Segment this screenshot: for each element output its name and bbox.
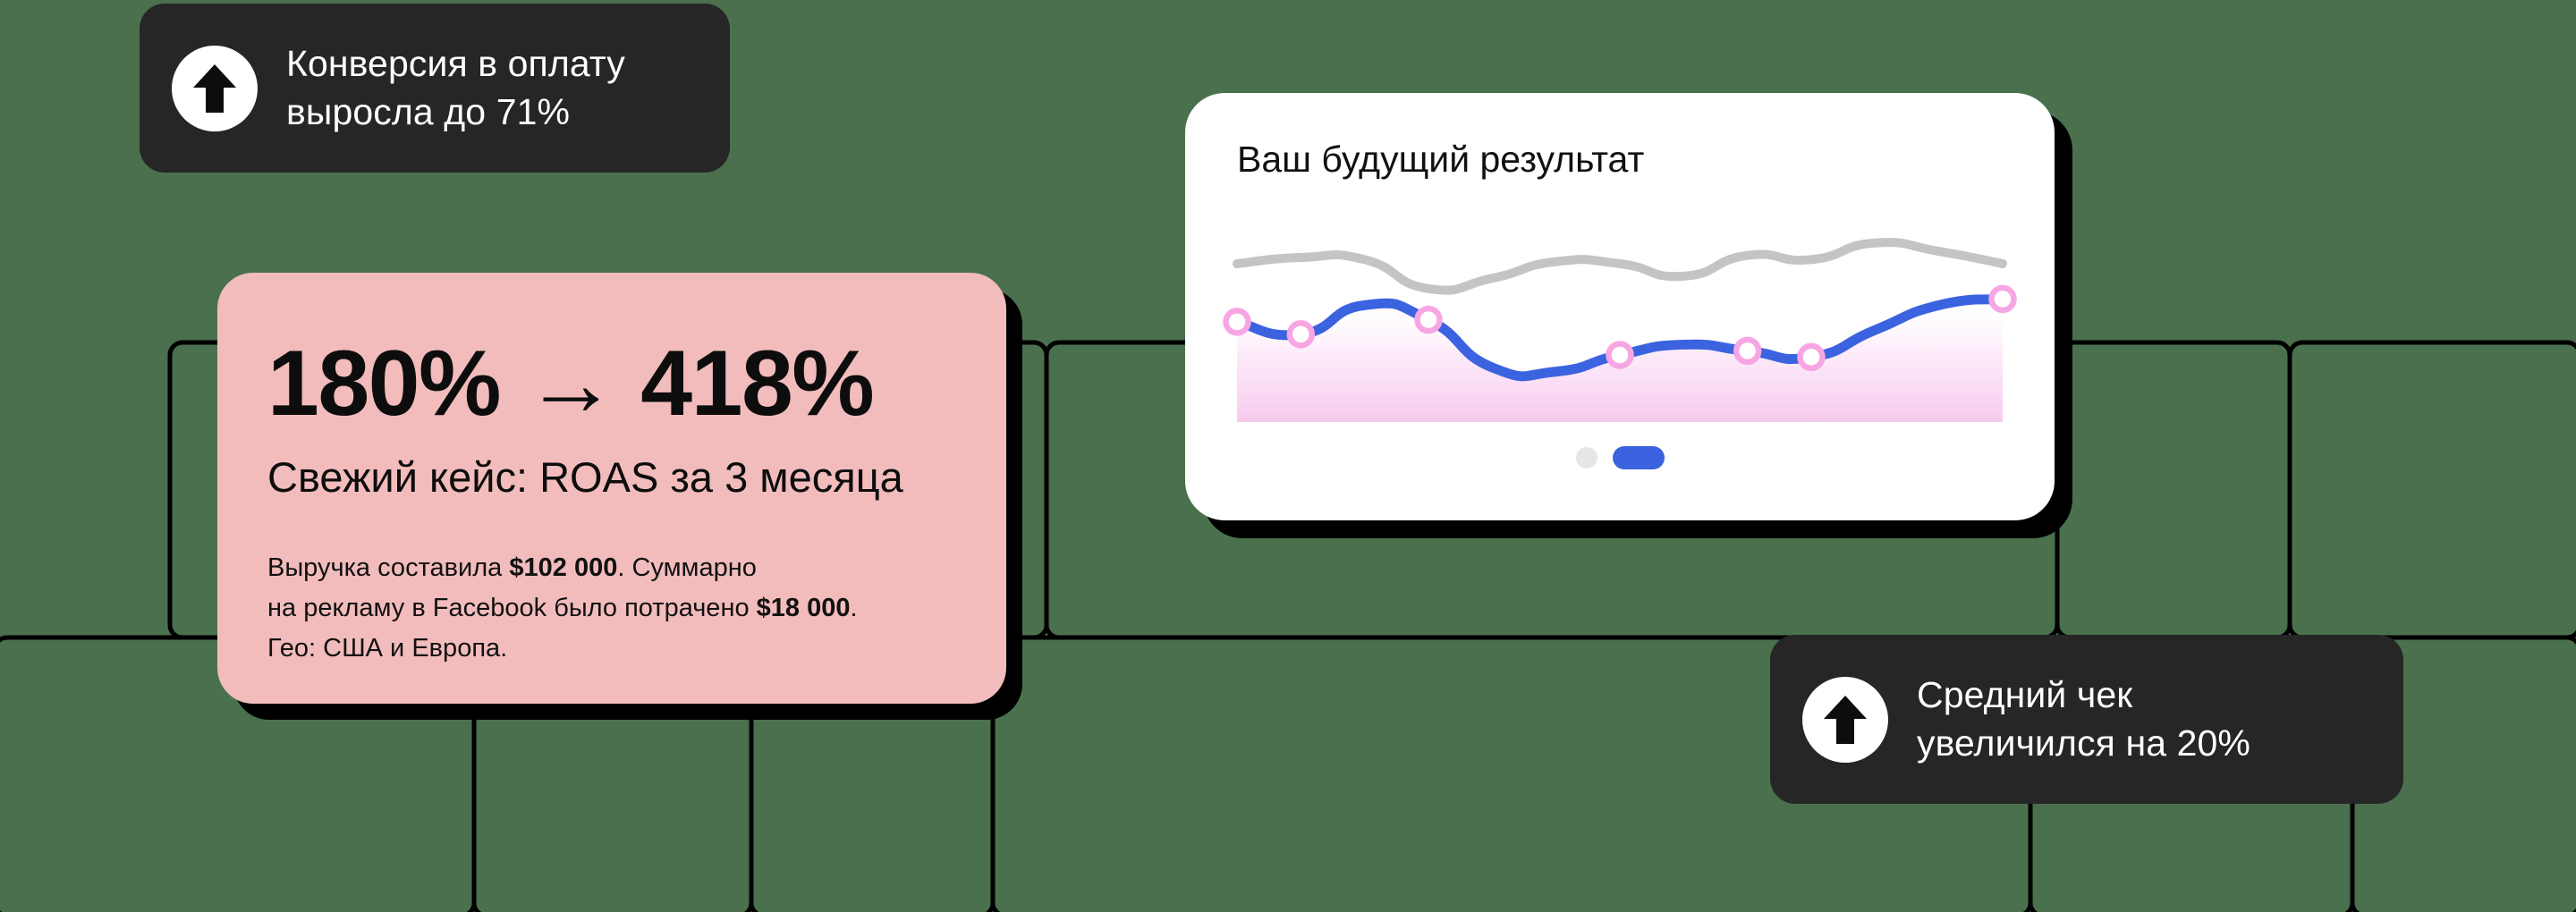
chart-plot: [1185, 198, 2055, 422]
case-body: Выручка составила $102 000. Суммарнона р…: [267, 548, 956, 669]
badge-average-check: Средний чек увеличился на 20%: [1770, 635, 2403, 804]
arrow-up-icon: [1802, 677, 1888, 763]
pagination-dot-1[interactable]: [1576, 447, 1597, 469]
lattice-cell: [2290, 342, 2576, 638]
promo-banner: Конверсия в оплату выросла до 71% 180% →…: [0, 0, 2576, 912]
chart-marker: [1801, 346, 1823, 368]
badge-conversion: Конверсия в оплату выросла до 71%: [140, 4, 730, 173]
badge-conversion-text: Конверсия в оплату выросла до 71%: [286, 40, 625, 136]
chart-marker: [1418, 308, 1440, 331]
chart-marker: [1609, 344, 1631, 367]
chart-marker: [1290, 323, 1312, 345]
case-headline: 180% → 418%: [267, 337, 956, 430]
chart-pagination[interactable]: [1185, 446, 2055, 469]
chart-marker: [1226, 310, 1249, 333]
lattice-cell: [2057, 342, 2290, 638]
chart-title: Ваш будущий результат: [1237, 139, 2055, 180]
case-card: 180% → 418% Свежий кейс: ROAS за 3 месяц…: [217, 273, 1022, 720]
badge-average-check-text: Средний чек увеличился на 20%: [1917, 671, 2250, 767]
arrow-up-icon: [172, 46, 258, 131]
chart-card: Ваш будущий результат: [1185, 93, 2080, 540]
case-subtitle: Свежий кейс: ROAS за 3 месяца: [267, 453, 956, 502]
chart-line-baseline: [1237, 242, 2003, 291]
pagination-dot-2-active[interactable]: [1613, 446, 1665, 469]
chart-marker: [1992, 288, 2014, 310]
chart-marker: [1736, 340, 1758, 362]
